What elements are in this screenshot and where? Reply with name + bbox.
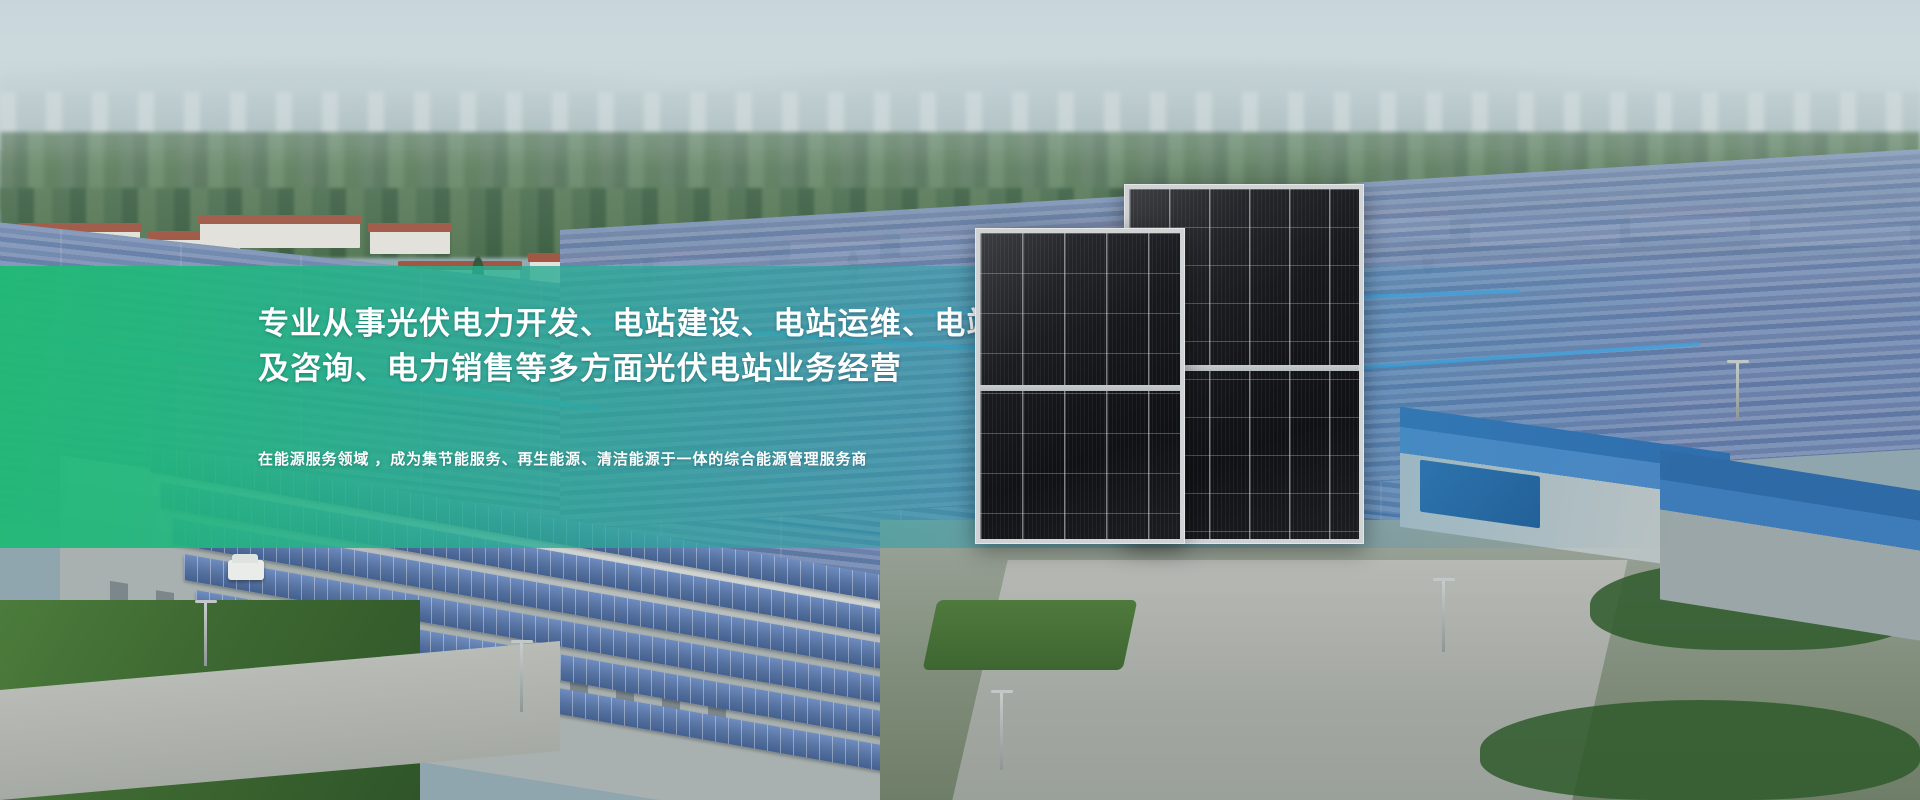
tree-cluster bbox=[1480, 700, 1920, 800]
light-pole bbox=[1000, 690, 1003, 770]
module-mid-bar bbox=[980, 385, 1180, 391]
hero-overlay-panel: 专业从事光伏电力开发、电站建设、电站运维、电站设计 及咨询、电力销售等多方面光伏… bbox=[0, 266, 1674, 548]
hero-headline-line-2: 及咨询、电力销售等多方面光伏电站业务经营 bbox=[258, 347, 1098, 392]
hero-banner: 专业从事光伏电力开发、电站建设、电站运维、电站设计 及咨询、电力销售等多方面光伏… bbox=[0, 0, 1920, 800]
parked-van bbox=[228, 560, 264, 580]
hero-headline-line-1: 专业从事光伏电力开发、电站建设、电站运维、电站设计 bbox=[258, 302, 1098, 347]
solar-module-front bbox=[975, 228, 1185, 544]
hero-headline: 专业从事光伏电力开发、电站建设、电站运维、电站设计 及咨询、电力销售等多方面光伏… bbox=[258, 302, 1098, 392]
light-pole bbox=[1442, 578, 1445, 652]
lawn bbox=[923, 600, 1138, 670]
light-pole bbox=[520, 640, 523, 712]
light-pole bbox=[1736, 360, 1739, 420]
light-pole bbox=[204, 600, 207, 666]
